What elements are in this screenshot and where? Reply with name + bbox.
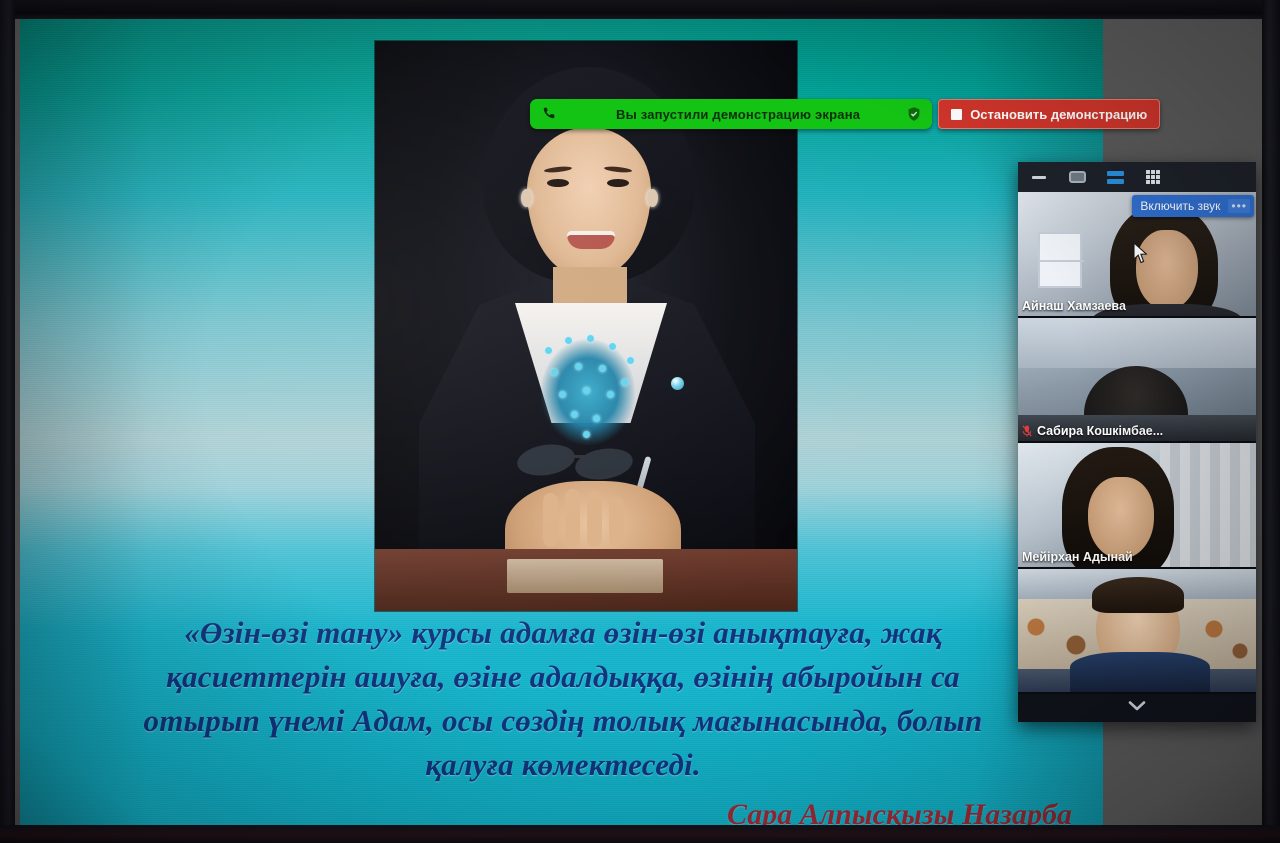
share-status-pill: Вы запустили демонстрацию экрана [530,99,932,129]
minimize-icon[interactable] [1028,169,1050,185]
shared-presentation-slide: «Өзін-өзі тану» курсы адамға өзін-өзі ан… [20,19,1103,825]
unmute-label: Включить звук [1140,199,1220,213]
participant-tile[interactable] [1018,569,1256,695]
participant-tile[interactable]: Включить звук ••• Айнаш Хамзаева [1018,192,1256,318]
participant-name: Мейірхан Адынай [1022,550,1133,564]
shield-icon [906,106,922,122]
restore-window-icon[interactable] [1066,169,1088,185]
participant-tile[interactable]: Мейірхан Адынай [1018,443,1256,569]
quote-line-1: «Өзін-өзі тану» курсы адамға өзін-өзі ан… [48,611,1078,655]
phone-icon [542,106,558,122]
chevron-down-icon [1128,699,1146,717]
participant-tiles: Включить звук ••• Айнаш Хамзаева [1018,192,1256,694]
video-participants-panel: Включить звук ••• Айнаш Хамзаева [1018,162,1256,722]
quote-line-2: қасиеттерін ашуға, өзіне адалдыққа, өзін… [48,655,1078,699]
scroll-down-button[interactable] [1018,694,1256,722]
quote-line-3: отырып үнемі Адам, осы сөздің толық мағы… [48,699,1078,743]
desktop-background: «Өзін-өзі тану» курсы адамға өзін-өзі ан… [15,19,1262,825]
unmute-tooltip[interactable]: Включить звук ••• [1132,195,1254,217]
speaker-view-icon[interactable] [1104,169,1126,185]
mouse-pointer-icon [1133,242,1148,264]
more-options-button[interactable]: ••• [1228,199,1250,213]
stop-share-label: Остановить демонстрацию [970,107,1147,122]
participant-name-text: Айнаш Хамзаева [1022,299,1126,313]
participant-name: Сабира Кошкімбае... [1022,424,1163,438]
photographed-monitor: «Өзін-өзі тану» курсы адамға өзін-өзі ан… [0,0,1280,843]
gallery-grid-icon[interactable] [1142,169,1164,185]
mic-muted-icon [1022,425,1032,437]
quote-attribution: Сара Алпысқызы Назарба [48,798,1078,825]
slide-quote: «Өзін-өзі тану» курсы адамға өзін-өзі ан… [48,611,1078,787]
quote-line-4: қалуға көмектеседі. [48,743,1078,787]
participant-name: Айнаш Хамзаева [1022,299,1126,313]
participant-name-text: Мейірхан Адынай [1022,550,1133,564]
participant-tile[interactable]: Сабира Кошкімбае... [1018,318,1256,444]
screen-share-toolbar: Вы запустили демонстрацию экрана Останов… [530,99,1160,129]
monitor-bezel-left [0,0,15,843]
monitor-bezel-bottom [0,825,1280,843]
participant-name-text: Сабира Кошкімбае... [1037,424,1163,438]
monitor-bezel-right [1262,0,1280,843]
share-status-text: Вы запустили демонстрацию экрана [570,107,894,122]
monitor-bezel-top [0,0,1280,19]
panel-toolbar [1018,162,1256,192]
stop-share-button[interactable]: Остановить демонстрацию [938,99,1160,129]
stop-square-icon [951,109,962,120]
